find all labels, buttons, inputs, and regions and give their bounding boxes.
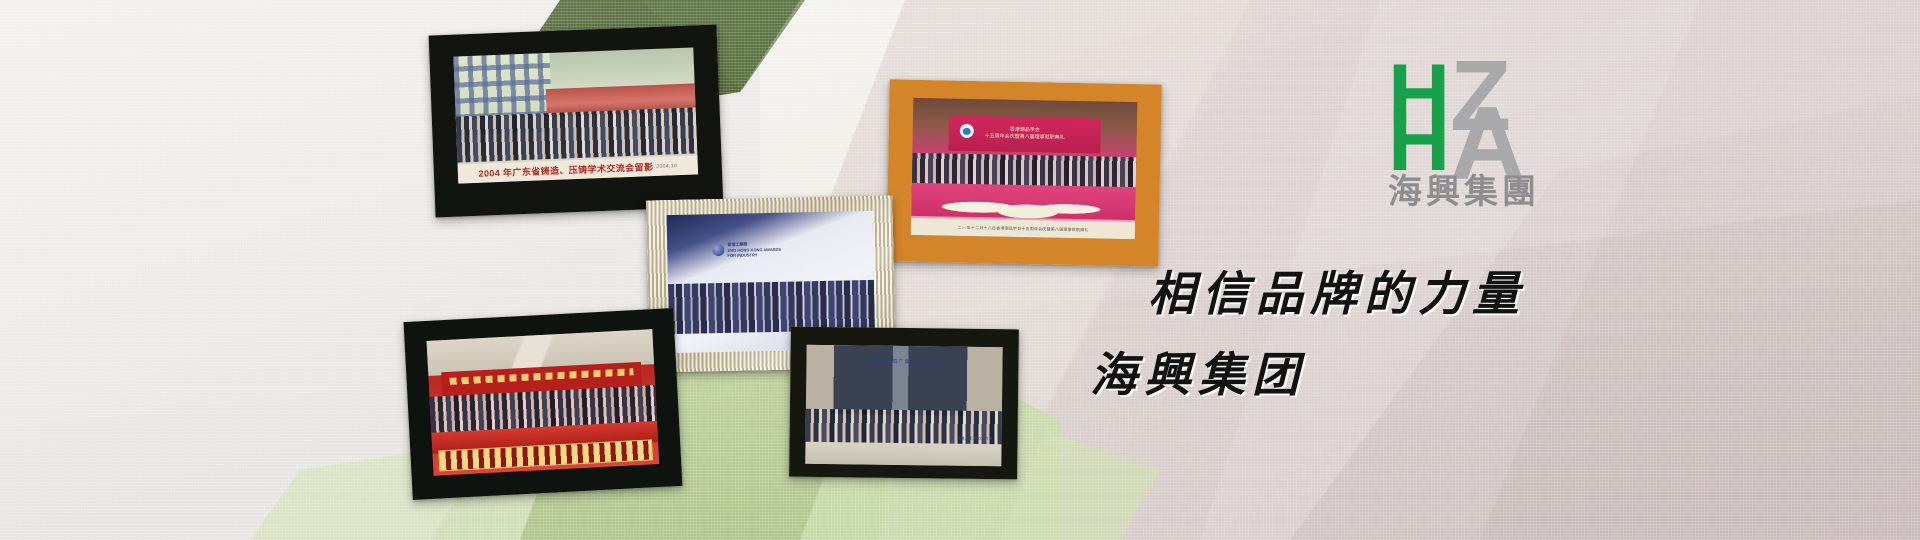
slogan-line-2: 海興集团 <box>1090 336 1610 405</box>
brand-slogan: 相信品牌的力量 海興集团 <box>1090 255 1610 405</box>
logo-lettermarks: H H Z A <box>1388 52 1588 170</box>
slogan-line-1: 相信品牌的力量 <box>1148 255 1610 324</box>
stage-banner-text <box>450 368 634 385</box>
group-of-people <box>456 107 697 162</box>
photo-caption: 2004 年广东省铸造、压铸学术交流会留影 <box>478 160 653 180</box>
group-of-people <box>668 280 876 334</box>
photo-image: 高要人和四厂集团有限公司 全体员工 2007.07.2 <box>805 345 1003 466</box>
awards-backdrop-text: 香港工業獎 2003 HONG KONG AWARDS FOR INDUSTRY <box>727 241 781 258</box>
stage-banner-line2: 十五周年会庆暨第八届理事就职典礼 <box>985 134 1065 143</box>
photo-image: 香港潮品学会 十五周年会庆暨第八届理事就职典礼 二○○年十二月十八日香港潮品学会… <box>911 98 1137 239</box>
hza-hero-banner: 2004 年广东省铸造、压铸学术交流会留影 2004.10 香港潮品学会 十五周… <box>0 0 1920 540</box>
stage-banner: 香港潮品学会 十五周年会庆暨第八届理事就职典礼 <box>949 115 1101 153</box>
awards-title-en-line2: FOR INDUSTRY <box>727 252 781 259</box>
photo-frame-building-entrance-group[interactable]: 高要人和四厂集团有限公司 全体员工 2007.07.2 <box>789 327 1019 480</box>
flower-arrangement <box>912 183 1136 220</box>
photo-mat: 香港潮品学会 十五周年会庆暨第八届理事就职典礼 二○○年十二月十八日香港潮品学会… <box>886 79 1161 266</box>
hza-logo[interactable]: H H Z A 海興集團 <box>1388 52 1588 217</box>
photo-caption-date: 2004.10 <box>656 163 677 170</box>
photo-frame-2014-red-stage-ceremony[interactable] <box>404 308 683 500</box>
photo-image <box>426 329 660 476</box>
photo-mat <box>404 308 683 500</box>
photo-caption: 二○○年十二月十八日香港潮品学会十五周年会庆暨第八届理事就职典礼 <box>957 224 1088 233</box>
photo-stamp: 全体员工 2007.07.2 <box>957 437 992 442</box>
photo-image: 2004 年广东省铸造、压铸学术交流会留影 2004.10 <box>454 47 698 184</box>
logo-company-name-cn: 海興集團 <box>1388 164 1540 213</box>
photo-mat: 高要人和四厂集团有限公司 全体员工 2007.07.2 <box>789 327 1019 480</box>
plaza-ground <box>805 442 1001 466</box>
awards-logo-icon <box>712 244 724 256</box>
photo-frame-15th-anniversary-assembly[interactable]: 香港潮品学会 十五周年会庆暨第八届理事就职典礼 二○○年十二月十八日香港潮品学会… <box>886 79 1161 266</box>
building-sign: 高要人和四厂集团有限公司 <box>842 355 968 368</box>
awards-backdrop: 香港工業獎 2003 HONG KONG AWARDS FOR INDUSTRY <box>712 234 837 264</box>
photo-mat: 2004 年广东省铸造、压铸学术交流会留影 2004.10 <box>429 25 724 218</box>
photo-caption-bar: 二○○年十二月十八日香港潮品学会十五周年会庆暨第八届理事就职典礼 <box>911 218 1134 239</box>
building-facade: 高要人和四厂集团有限公司 <box>806 345 1003 416</box>
association-emblem-icon <box>959 124 973 138</box>
photo-frame-2004-guangdong-casting[interactable]: 2004 年广东省铸造、压铸学术交流会留影 2004.10 <box>429 25 724 218</box>
